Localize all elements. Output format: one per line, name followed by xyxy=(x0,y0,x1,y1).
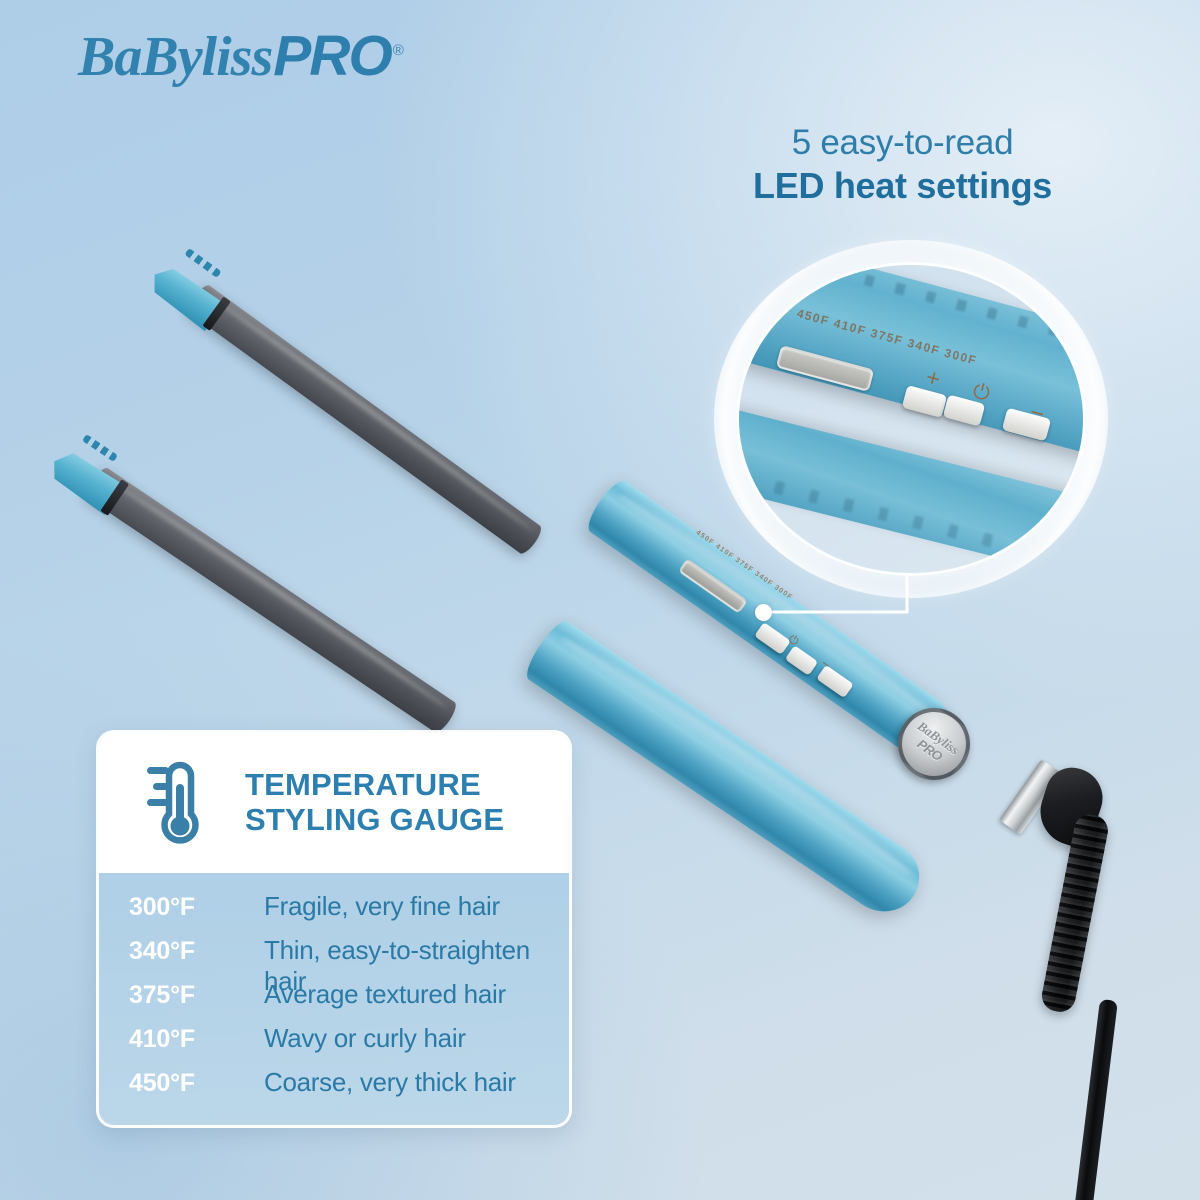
temperature-value: 340°F xyxy=(129,937,264,966)
temperature-value: 410°F xyxy=(129,1025,264,1054)
lower-plate xyxy=(83,465,460,735)
gauge-title-line2: STYLING GAUGE xyxy=(245,803,504,838)
gauge-card-body: 300°F Fragile, very fine hair 340°F Thin… xyxy=(99,873,569,1128)
upper-tip-ridges xyxy=(184,248,221,278)
hair-type-description: Fragile, very fine hair xyxy=(264,891,500,922)
temperature-value: 375°F xyxy=(129,981,264,1010)
hair-type-description: Coarse, very thick hair xyxy=(264,1067,516,1098)
magnified-detail-inset: 450F 410F 375F 340F 300F + ⏻ − xyxy=(736,262,1086,576)
temperature-gauge-card: TEMPERATURE STYLING GAUGE 300°F Fragile,… xyxy=(96,730,572,1128)
lower-tip-ridges xyxy=(82,434,118,462)
table-row: 410°F Wavy or curly hair xyxy=(99,1023,569,1067)
hair-type-description: Average textured hair xyxy=(264,979,506,1010)
table-row: 450°F Coarse, very thick hair xyxy=(99,1067,569,1111)
thermometer-icon xyxy=(147,754,211,853)
hair-type-description: Wavy or curly hair xyxy=(264,1023,466,1054)
temperature-value: 300°F xyxy=(129,893,264,922)
callout-anchor-dot xyxy=(755,604,772,621)
gauge-title: TEMPERATURE STYLING GAUGE xyxy=(245,768,504,837)
table-row: 340°F Thin, easy-to-straighten hair xyxy=(99,935,569,979)
table-row: 375°F Average textured hair xyxy=(99,979,569,1023)
table-row: 300°F Fragile, very fine hair xyxy=(99,891,569,935)
gauge-title-line1: TEMPERATURE xyxy=(245,768,504,803)
temperature-value: 450°F xyxy=(129,1069,264,1098)
gauge-card-header: TEMPERATURE STYLING GAUGE xyxy=(99,733,569,873)
power-cord xyxy=(1074,999,1117,1200)
flat-iron-lower-arm xyxy=(45,432,605,752)
lower-plate-highlight xyxy=(103,474,450,711)
cord-ribbed-protector xyxy=(1039,812,1111,1015)
inset-circle: 450F 410F 375F 340F 300F + ⏻ − xyxy=(736,262,1086,576)
